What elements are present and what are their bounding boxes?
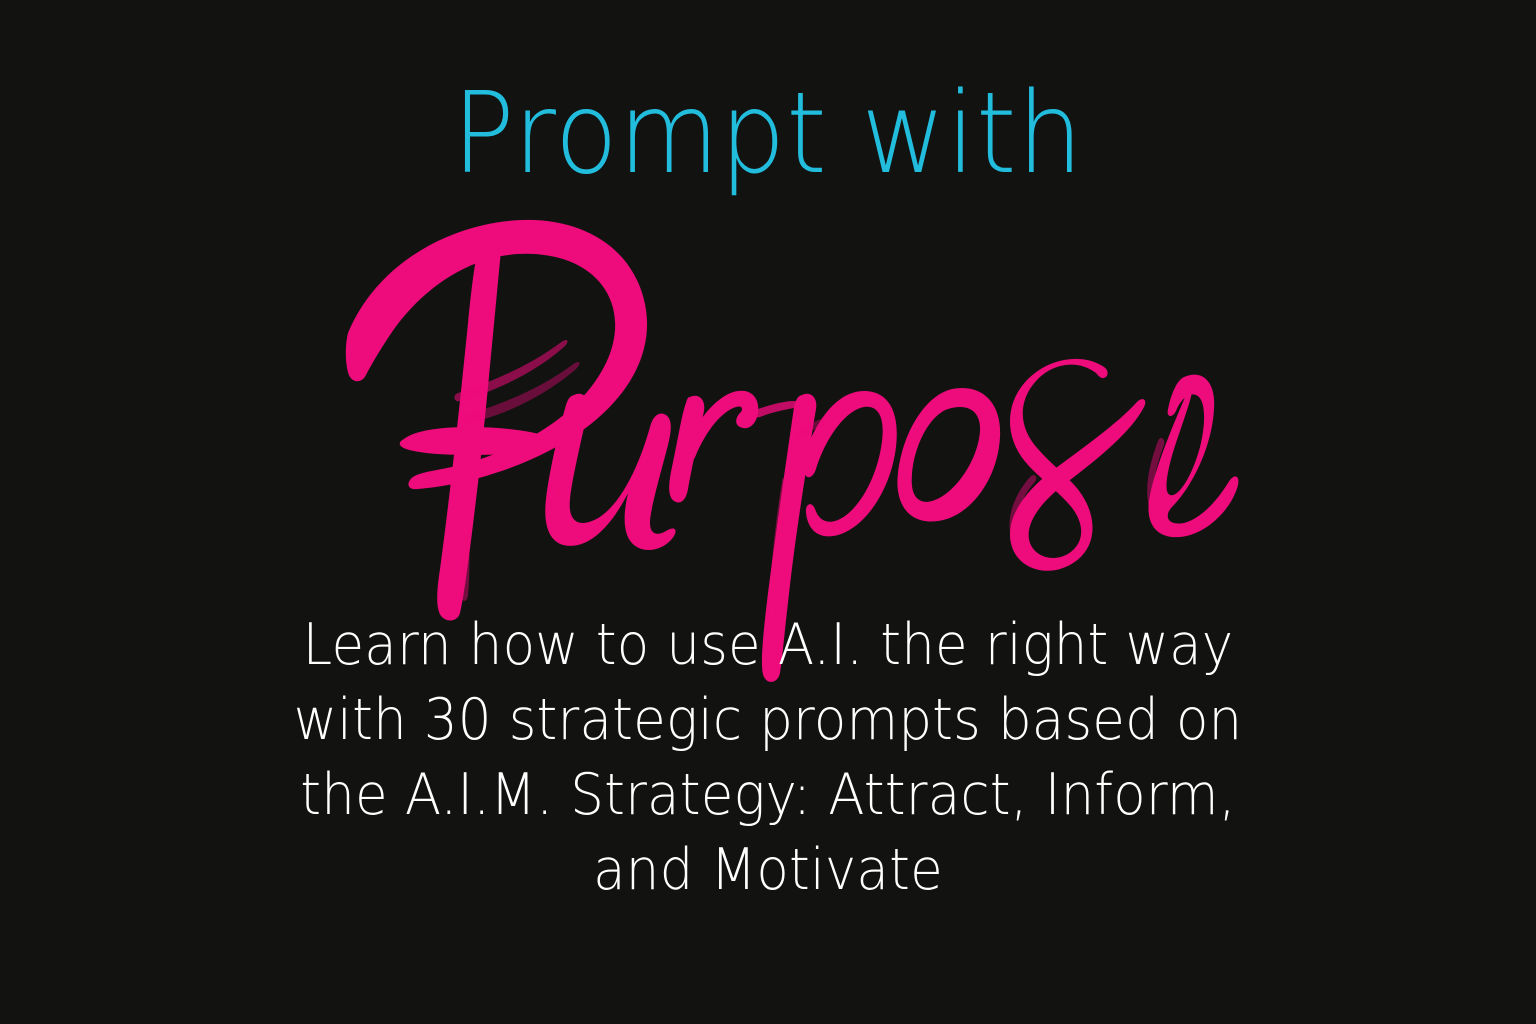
headline-line-purpose: Purpose	[0, 178, 1536, 618]
subcopy-line-2: with 30 strategic prompts based on	[54, 683, 1482, 758]
subcopy-block: Learn how to use A.I. the right way with…	[0, 608, 1536, 908]
subcopy-line-3: the A.I.M. Strategy: Attract, Inform,	[54, 758, 1482, 833]
headline-line-prompt-with: Prompt with	[61, 78, 1474, 190]
poster-canvas: Prompt with Purpose	[0, 0, 1536, 1024]
purpose-script-lettering: Purpose	[318, 183, 1218, 613]
subcopy-line-4: and Motivate	[54, 833, 1482, 908]
subcopy-line-1: Learn how to use A.I. the right way	[54, 608, 1482, 683]
